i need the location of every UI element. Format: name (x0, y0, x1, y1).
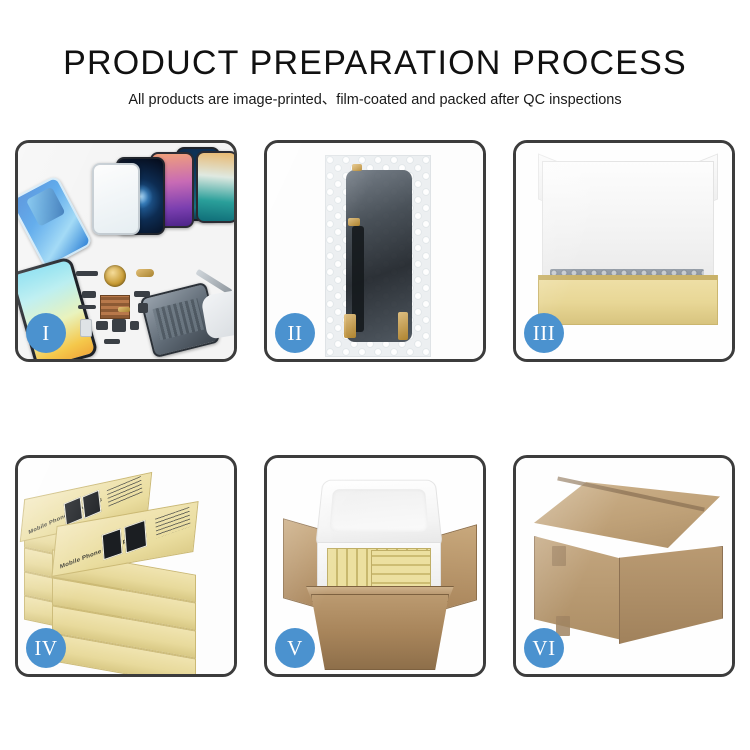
box-spec-lines (107, 476, 143, 508)
step-badge: I (26, 313, 66, 353)
gold-connector (344, 314, 356, 338)
box-product-photo (82, 490, 101, 519)
chip-part (130, 321, 139, 330)
speaker-coil-part (104, 265, 126, 287)
panel-2-image: II (267, 143, 483, 359)
foam-box-lid (315, 480, 443, 549)
step-badge: II (275, 313, 315, 353)
bubble-wrap-bag (325, 155, 431, 357)
connector-part (118, 307, 130, 312)
step-badge: IV (26, 628, 66, 668)
carton-body (311, 594, 449, 670)
box-spec-lines (155, 507, 191, 538)
process-step-6: VI (513, 455, 735, 677)
process-step-4: Mobile Phone Spare Parts Mobile Phone Sp… (15, 455, 237, 677)
gold-connector (398, 312, 408, 340)
gold-connector (348, 218, 360, 226)
process-step-2: II (264, 140, 486, 362)
camera-module-part (136, 269, 154, 277)
panel-5-image: V (267, 458, 483, 674)
carton-tape-upper (552, 546, 566, 566)
chip-part (96, 321, 108, 330)
process-step-1: I (15, 140, 237, 362)
kraft-box-tray (538, 275, 718, 325)
step-badge: III (524, 313, 564, 353)
step-badge: VI (524, 628, 564, 668)
battery-part (80, 319, 92, 337)
inner-retail-boxes-second-row (371, 550, 431, 592)
step-badge: V (275, 628, 315, 668)
flex-cable-part (78, 305, 96, 309)
infographic-page: PRODUCT PREPARATION PROCESS All products… (0, 0, 750, 750)
box-product-photo (102, 528, 123, 560)
chip-part (138, 303, 148, 313)
chip-part (134, 291, 150, 297)
chip-part (76, 271, 98, 276)
process-step-3: III (513, 140, 735, 362)
page-title: PRODUCT PREPARATION PROCESS (0, 44, 750, 83)
panel-1-image: I (18, 143, 234, 359)
gold-connector (352, 164, 362, 171)
box-product-photo (124, 520, 147, 554)
process-step-grid: I II (15, 140, 735, 677)
phone-gold-teal (196, 151, 234, 223)
panel-3-image: III (516, 143, 732, 359)
page-subtitle: All products are image-printed、film-coat… (0, 88, 750, 109)
chip-part (104, 339, 120, 344)
vibration-motor-part (112, 319, 126, 332)
panel-4-image: Mobile Phone Spare Parts Mobile Phone Sp… (18, 458, 234, 674)
screen-protector-glass (92, 163, 140, 235)
chip-part (82, 291, 96, 298)
process-step-5: V (264, 455, 486, 677)
panel-6-image: VI (516, 458, 732, 674)
